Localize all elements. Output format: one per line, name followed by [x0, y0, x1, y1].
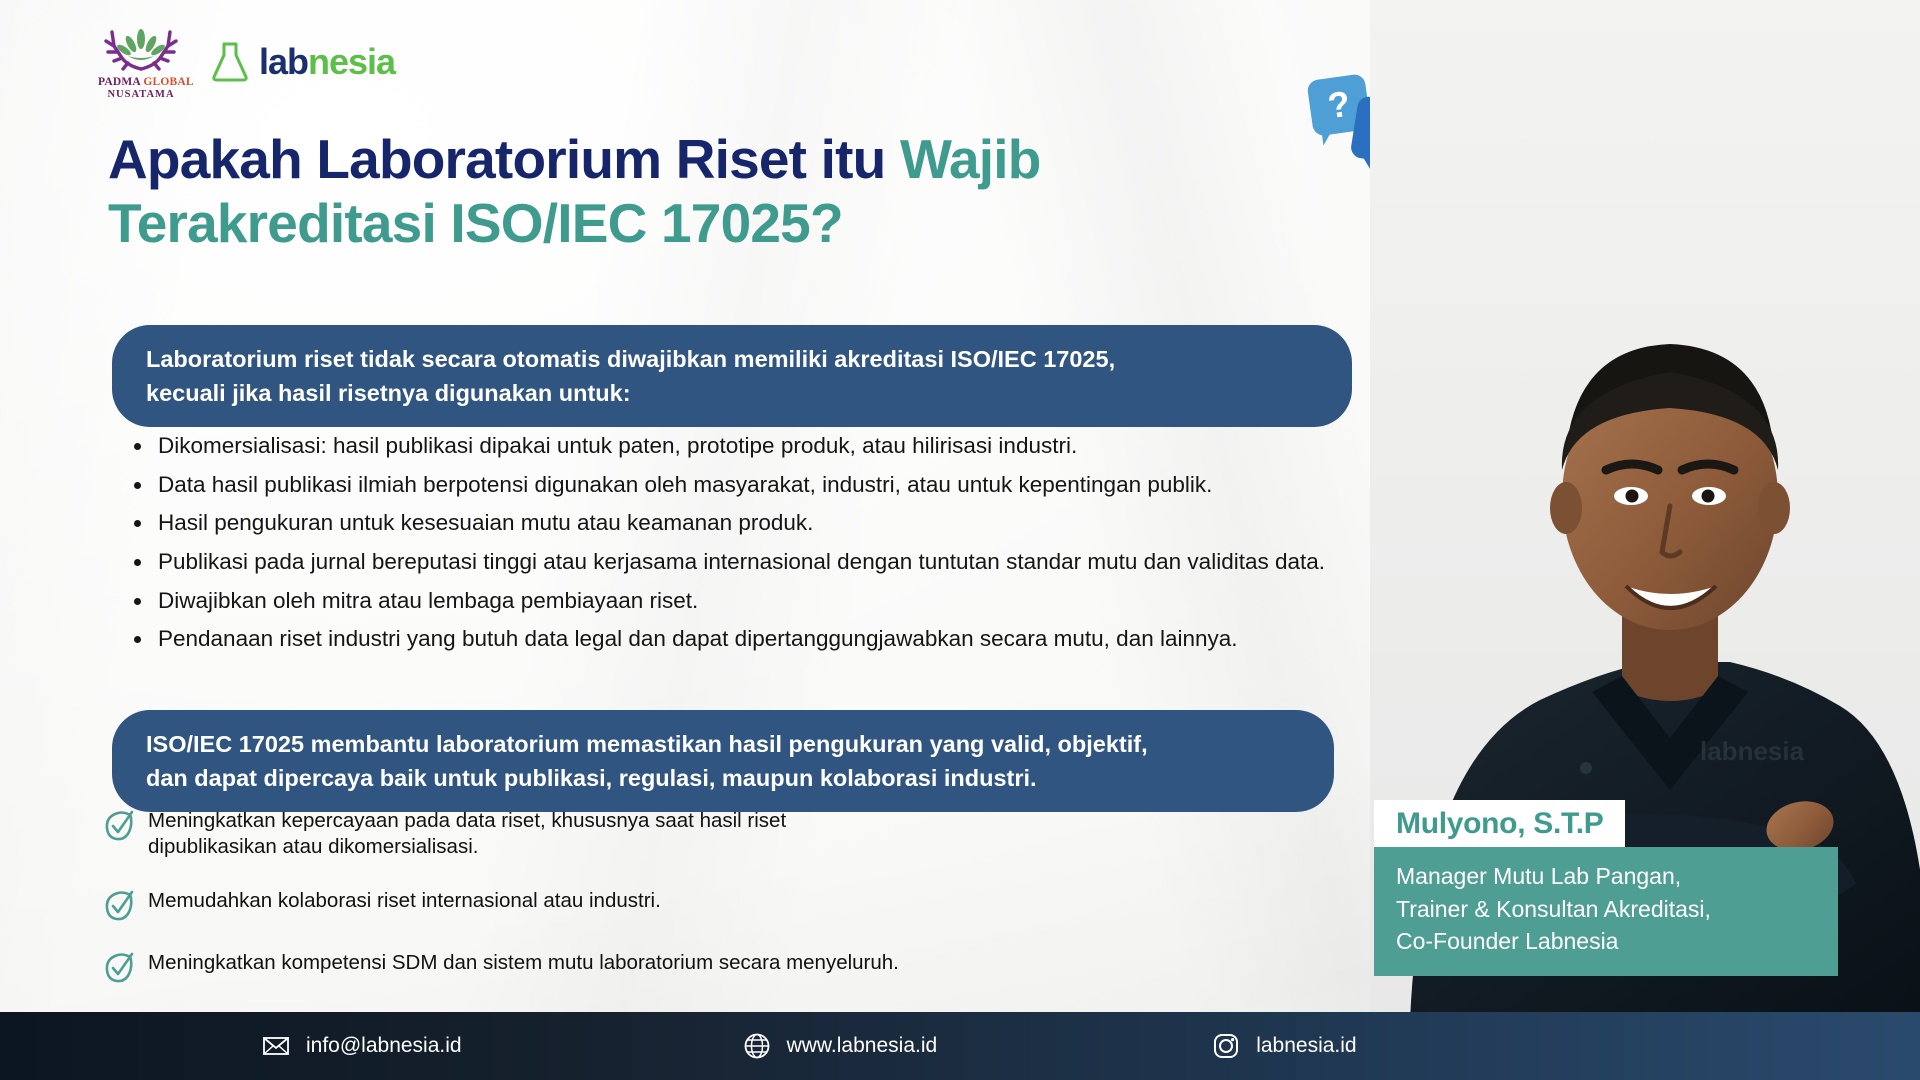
list-item: Meningkatkan kepercayaan pada data riset… [105, 808, 905, 860]
footer-instagram-text: labnesia.id [1256, 1034, 1356, 1058]
footer-website-text: www.labnesia.id [787, 1034, 938, 1058]
instagram-icon [1212, 1032, 1240, 1060]
callout-bottom-line-2: dan dapat dipercaya baik untuk publikasi… [146, 761, 1300, 795]
padma-antler-lotus-icon [98, 24, 184, 76]
footer-instagram[interactable]: labnesia.id [1212, 1032, 1356, 1060]
footer-email[interactable]: info@labnesia.id [262, 1032, 462, 1060]
headline-teal-word: Wajib [900, 128, 1041, 190]
envelope-icon [262, 1032, 290, 1060]
flask-icon [210, 41, 250, 83]
callout-top-line-2: kecuali jika hasil risetnya digunakan un… [146, 376, 1318, 410]
padma-word-3: NUSATAMA [107, 89, 174, 100]
list-item: Publikasi pada jurnal bereputasi tinggi … [154, 544, 1398, 581]
headline-line-2: Terakreditasi ISO/IEC 17025? [108, 192, 1328, 256]
callout-box-top: Laboratorium riset tidak secara otomatis… [112, 325, 1352, 427]
footer-email-text: info@labnesia.id [306, 1034, 462, 1058]
labnesia-wordmark: labnesia [259, 41, 395, 83]
list-item: Meningkatkan kompetensi SDM dan sistem m… [105, 950, 905, 984]
headline-line-1: Apakah Laboratorium Riset itu Wajib [108, 128, 1328, 192]
criteria-bullet-list: Dikomersialisasi: hasil publikasi dipaka… [128, 428, 1398, 660]
page-title: Apakah Laboratorium Riset itu Wajib Tera… [108, 128, 1328, 256]
list-item: Hasil pengukuran untuk kesesuaian mutu a… [154, 505, 1398, 542]
footer-website[interactable]: www.labnesia.id [743, 1032, 938, 1060]
callout-bottom-line-1: ISO/IEC 17025 membantu laboratorium mema… [146, 727, 1300, 761]
check-circle-icon [105, 810, 135, 842]
presenter-role-line-3: Co-Founder Labnesia [1396, 925, 1816, 958]
list-item: Memudahkan kolaborasi riset internasiona… [105, 888, 905, 922]
labnesia-word-lab: lab [259, 41, 308, 82]
padma-global-nusatama-logo: PADMA GLOBAL NUSATAMA [98, 24, 184, 100]
check-circle-icon [105, 952, 135, 984]
padma-word-2: GLOBAL [143, 76, 193, 88]
benefits-check-list: Meningkatkan kepercayaan pada data riset… [105, 808, 905, 1012]
presenter-role-line-1: Manager Mutu Lab Pangan, [1396, 860, 1816, 893]
headline-navy-text: Apakah Laboratorium Riset itu [108, 128, 900, 190]
labnesia-word-nesia: nesia [308, 41, 395, 82]
benefit-text: Memudahkan kolaborasi riset internasiona… [148, 888, 661, 914]
list-item: Dikomersialisasi: hasil publikasi dipaka… [154, 428, 1398, 465]
labnesia-logo: labnesia [210, 41, 395, 83]
poster-canvas: PADMA GLOBAL NUSATAMA labnesia ? ? TANYA… [0, 0, 1920, 1080]
globe-icon [743, 1032, 771, 1060]
presenter-role: Manager Mutu Lab Pangan, Trainer & Konsu… [1374, 847, 1838, 976]
callout-top-line-1: Laboratorium riset tidak secara otomatis… [146, 342, 1318, 376]
presenter-role-line-2: Trainer & Konsultan Akreditasi, [1396, 893, 1816, 926]
benefit-text: Meningkatkan kompetensi SDM dan sistem m… [148, 950, 899, 976]
list-item: Data hasil publikasi ilmiah berpotensi d… [154, 467, 1398, 504]
presenter-name-card: Mulyono, S.T.P Manager Mutu Lab Pangan, … [1374, 800, 1838, 976]
padma-word-1: PADMA [98, 76, 140, 88]
logo-row: PADMA GLOBAL NUSATAMA labnesia [98, 24, 395, 100]
svg-text:labnesia: labnesia [1700, 736, 1805, 766]
footer-contact-bar: info@labnesia.id www.labnesia.id labnesi… [0, 1012, 1920, 1080]
check-circle-icon [105, 890, 135, 922]
callout-box-bottom: ISO/IEC 17025 membantu laboratorium mema… [112, 710, 1334, 812]
benefit-text: Meningkatkan kepercayaan pada data riset… [148, 808, 905, 860]
list-item: Diwajibkan oleh mitra atau lembaga pembi… [154, 583, 1398, 620]
presenter-name: Mulyono, S.T.P [1374, 800, 1625, 847]
list-item: Pendanaan riset industri yang butuh data… [154, 621, 1398, 658]
padma-logo-text: PADMA GLOBAL NUSATAMA [98, 76, 184, 100]
